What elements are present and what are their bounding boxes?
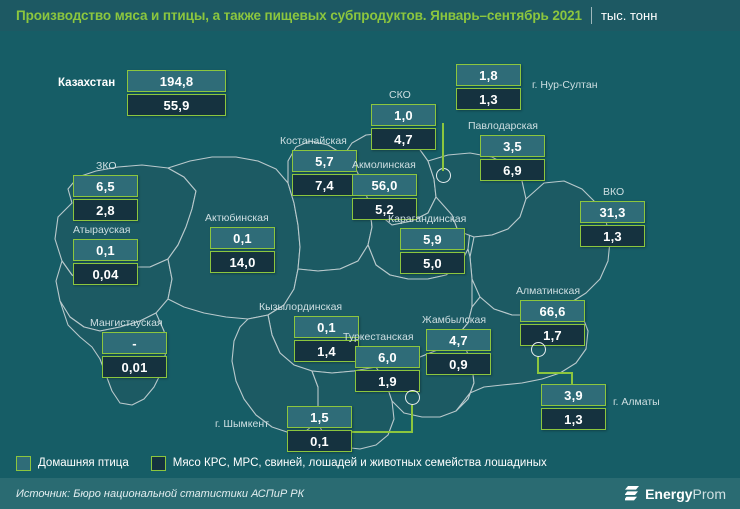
region-name-zko: ЗКО	[96, 160, 117, 172]
value-meat-kyzylorda: 1,4	[294, 340, 359, 362]
infographic-root: Производство мяса и птицы, а также пищев…	[0, 0, 740, 509]
value-poultry-aktobe: 0,1	[210, 227, 275, 249]
connector-almaty-vertical	[537, 357, 539, 373]
region-name-vko: ВКО	[603, 186, 624, 198]
region-name-kyzylorda: Кызылординская	[259, 301, 342, 313]
value-meat-almaty-oblast: 1,7	[520, 324, 585, 346]
connector-almaty-horizontal	[537, 372, 573, 374]
map-area: Казахстан 194,8 55,9 ЗКО 6,5 2,8 Атыраус…	[0, 31, 740, 478]
value-meat-sko: 4,7	[371, 128, 436, 150]
value-meat-pavlodar: 6,9	[480, 159, 545, 181]
region-name-mangystau: Мангистауская	[90, 317, 163, 329]
brand-text: EnergyProm	[645, 486, 726, 502]
value-meat-nursultan: 1,3	[456, 88, 521, 110]
legend-item-poultry: Домашняя птица	[16, 456, 129, 471]
value-poultry-akmola: 56,0	[352, 174, 417, 196]
value-meat-aktobe: 14,0	[210, 251, 275, 273]
page-title: Производство мяса и птицы, а также пищев…	[16, 8, 582, 23]
value-poultry-atyrau: 0,1	[73, 239, 138, 261]
value-poultry-sko: 1,0	[371, 104, 436, 126]
region-name-aktobe: Актюбинская	[205, 212, 269, 224]
footer-bar: Источник: Бюро национальной статистики А…	[0, 478, 740, 509]
header-bar: Производство мяса и птицы, а также пищев…	[0, 0, 740, 31]
legend-label-poultry: Домашняя птица	[38, 457, 129, 469]
value-poultry-turkestan: 6,0	[355, 346, 420, 368]
region-name-sko: СКО	[389, 89, 411, 101]
value-poultry-shymkent: 1,5	[287, 406, 352, 428]
legend-swatch-poultry	[16, 456, 31, 471]
value-meat-atyrau: 0,04	[73, 263, 138, 285]
value-poultry-almaty-city: 3,9	[541, 384, 606, 406]
value-poultry-almaty-oblast: 66,6	[520, 300, 585, 322]
value-poultry-mangystau: -	[102, 332, 167, 354]
value-meat-mangystau: 0,01	[102, 356, 167, 378]
value-meat-kostanay: 7,4	[292, 174, 357, 196]
value-meat-zhambyl: 0,9	[426, 353, 491, 375]
legend-label-meat: Мясо КРС, МРС, свиней, лошадей и животны…	[173, 457, 547, 469]
region-name-atyrau: Атырауская	[73, 224, 130, 236]
unit-label: тыс. тонн	[601, 8, 657, 23]
city-marker-almaty	[531, 342, 546, 357]
value-meat-zko: 2,8	[73, 199, 138, 221]
region-name-nursultan: г. Нур-Султан	[532, 79, 598, 91]
energyprom-mark-icon	[625, 485, 640, 502]
region-name-kostanay: Костанайская	[280, 135, 347, 147]
brand-logo: EnergyProm	[625, 485, 726, 502]
legend-swatch-meat	[151, 456, 166, 471]
region-name-kazakhstan: Казахстан	[58, 77, 115, 89]
value-poultry-pavlodar: 3,5	[480, 135, 545, 157]
value-poultry-zko: 6,5	[73, 175, 138, 197]
value-poultry-karaganda: 5,9	[400, 228, 465, 250]
connector-nursultan-vertical	[442, 123, 444, 171]
value-poultry-zhambyl: 4,7	[426, 329, 491, 351]
city-marker-shymkent	[405, 390, 420, 405]
region-name-pavlodar: Павлодарская	[468, 120, 538, 132]
value-poultry-nursultan: 1,8	[456, 64, 521, 86]
value-meat-vko: 1,3	[580, 225, 645, 247]
value-poultry-kazakhstan: 194,8	[127, 70, 226, 92]
region-name-almaty-oblast: Алматинская	[516, 285, 580, 297]
value-meat-karaganda: 5,0	[400, 252, 465, 274]
value-poultry-vko: 31,3	[580, 201, 645, 223]
value-meat-kazakhstan: 55,9	[127, 94, 226, 116]
region-name-akmola: Акмолинская	[352, 159, 416, 171]
connector-shymkent-horizontal	[352, 431, 413, 433]
legend: Домашняя птица Мясо КРС, МРС, свиней, ло…	[0, 448, 740, 478]
region-name-zhambyl: Жамбылская	[422, 314, 486, 326]
region-name-karaganda: Карагандинская	[388, 213, 466, 225]
value-meat-almaty-city: 1,3	[541, 408, 606, 430]
value-poultry-kostanay: 5,7	[292, 150, 357, 172]
header-divider	[591, 7, 592, 24]
source-text: Источник: Бюро национальной статистики А…	[16, 488, 304, 500]
brand-secondary: Prom	[693, 486, 726, 502]
region-name-shymkent: г. Шымкент	[215, 418, 269, 430]
legend-item-meat: Мясо КРС, МРС, свиней, лошадей и животны…	[151, 456, 547, 471]
region-name-almaty-city: г. Алматы	[613, 396, 660, 408]
region-name-turkestan: Туркестанская	[343, 331, 414, 343]
connector-shymkent-vertical	[411, 405, 413, 433]
value-meat-turkestan: 1,9	[355, 370, 420, 392]
brand-primary: Energy	[645, 486, 692, 502]
